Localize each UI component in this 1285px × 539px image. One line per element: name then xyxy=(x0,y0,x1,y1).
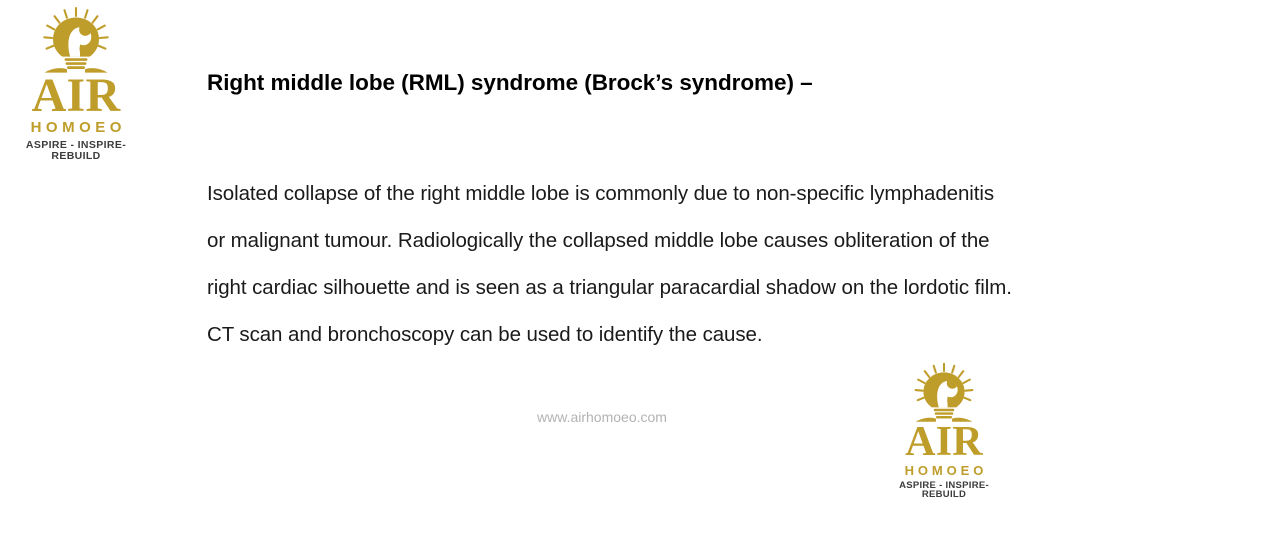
slide-body-paragraph: Isolated collapse of the right middle lo… xyxy=(207,170,1217,358)
brand-subname: HOMOEO xyxy=(8,120,144,135)
brand-subname: HOMOEO xyxy=(884,464,1004,477)
body-line: CT scan and bronchoscopy can be used to … xyxy=(207,311,1217,358)
brand-tagline: ASPIRE - INSPIRE- REBUILD xyxy=(884,481,1004,500)
brand-logo-top-left: AIR HOMOEO ASPIRE - INSPIRE- REBUILD xyxy=(8,6,144,161)
body-line: or malignant tumour. Radiologically the … xyxy=(207,217,1217,264)
site-watermark: www.airhomoeo.com xyxy=(537,409,667,425)
slide-heading: Right middle lobe (RML) syndrome (Brock’… xyxy=(207,70,813,96)
brand-tagline: ASPIRE - INSPIRE- REBUILD xyxy=(8,140,144,161)
lightbulb-question-icon xyxy=(901,362,987,423)
body-line: Isolated collapse of the right middle lo… xyxy=(207,170,1217,217)
brand-logo-bottom-right: AIR HOMOEO ASPIRE - INSPIRE- REBUILD xyxy=(884,362,1004,500)
brand-wordmark: AIR xyxy=(884,423,1004,462)
slide-canvas: AIR HOMOEO ASPIRE - INSPIRE- REBUILD Rig… xyxy=(0,0,1285,539)
brand-wordmark: AIR xyxy=(8,74,144,118)
body-line: right cardiac silhouette and is seen as … xyxy=(207,264,1217,311)
lightbulb-question-icon xyxy=(28,6,124,74)
